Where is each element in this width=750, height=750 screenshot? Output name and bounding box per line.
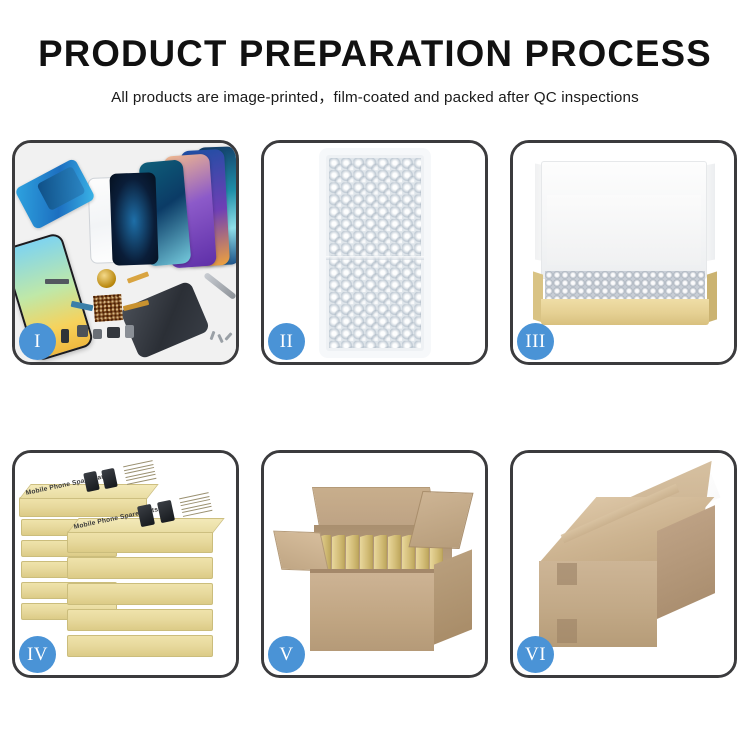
box-art-screen-2b (157, 500, 175, 523)
screws-group (211, 331, 233, 345)
pouch-seam (326, 256, 424, 260)
step-badge-v: V (268, 636, 305, 673)
carton-flap-left (273, 531, 329, 572)
step-panel-ii: II (261, 140, 488, 365)
small-part-5 (61, 329, 69, 343)
step-panel-iii: III (510, 140, 737, 365)
small-part-2 (93, 329, 102, 339)
bubble-wrap-pouch (326, 155, 424, 351)
phone-back-housing (119, 280, 210, 359)
copper-coil-part (97, 269, 116, 288)
small-part-1 (77, 325, 88, 337)
flex-cable-1 (127, 271, 149, 283)
box-spec-lines-1 (123, 460, 157, 487)
small-part-4 (125, 325, 134, 338)
bubble-texture (329, 158, 421, 348)
small-part-3 (107, 327, 120, 338)
carton-tape-lower (557, 619, 577, 643)
page-subtitle: All products are image-printed，film-coat… (0, 85, 750, 107)
retail-box-front-3 (67, 583, 213, 605)
header: PRODUCT PREPARATION PROCESS All products… (0, 0, 750, 107)
process-steps-grid: I II III (12, 140, 738, 685)
phone-screen-1 (109, 172, 158, 266)
page-title: PRODUCT PREPARATION PROCESS (4, 34, 747, 74)
connector-grid-part (93, 294, 123, 322)
carton-side-face (434, 549, 472, 644)
box-foam-insert (547, 195, 701, 265)
carton-front-face (310, 573, 434, 651)
speaker-part (45, 279, 69, 284)
retail-box-front-5 (67, 635, 213, 657)
box-art-screen-1b (101, 468, 118, 489)
step-badge-iii: III (517, 323, 554, 360)
tweezers-tool (203, 272, 236, 300)
retail-box-front-2 (67, 557, 213, 579)
step-badge-vi: VI (517, 636, 554, 673)
bubble-wrap-contents (545, 271, 705, 301)
box-tray-front (541, 299, 709, 325)
step-badge-iv: IV (19, 636, 56, 673)
step-panel-vi: VI (510, 450, 737, 678)
step-panel-i: I (12, 140, 239, 365)
retail-box-front-4 (67, 609, 213, 631)
carton-tape-upper (557, 563, 577, 585)
box-spec-lines-2 (179, 492, 213, 519)
blue-lcd-assembly (15, 158, 96, 231)
step-badge-i: I (19, 323, 56, 360)
step-panel-v: V (261, 450, 488, 678)
step-badge-ii: II (268, 323, 305, 360)
retail-box-front-1 (67, 531, 213, 553)
step-panel-iv: Mobile Phone Spare Parts Mobile Phone Sp… (12, 450, 239, 678)
product-preparation-infographic: PRODUCT PREPARATION PROCESS All products… (0, 0, 750, 750)
